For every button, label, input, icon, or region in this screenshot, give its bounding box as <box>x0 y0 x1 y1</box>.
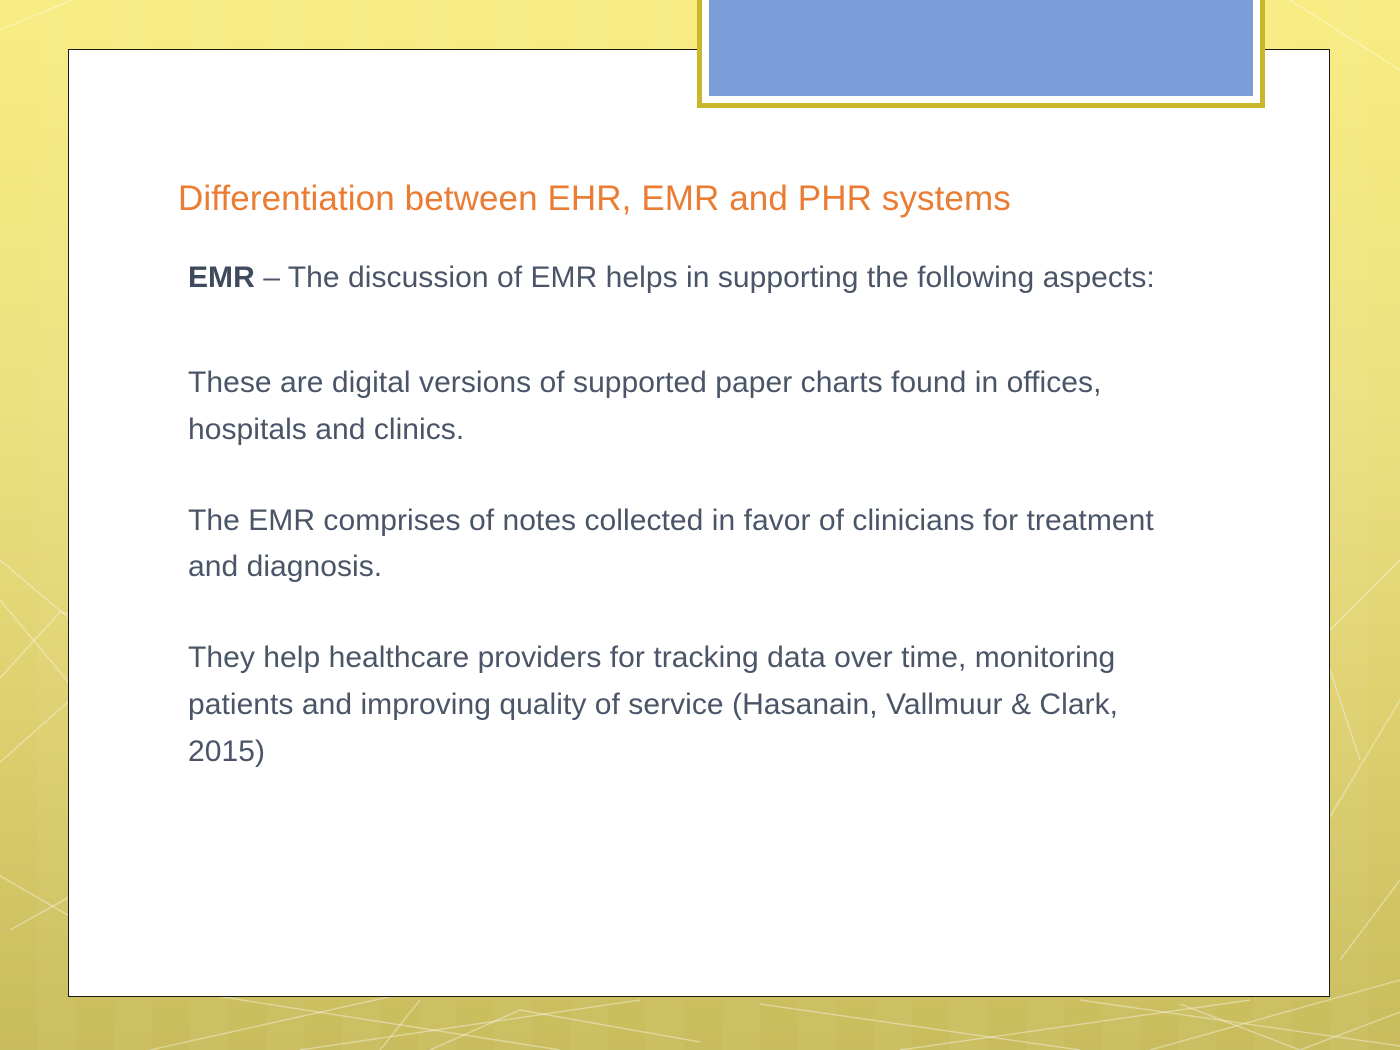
slide-body-list: EMR – The discussion of EMR helps in sup… <box>110 255 1170 775</box>
paragraph-text: The EMR comprises of notes collected in … <box>188 504 1154 584</box>
paragraph-lead-emphasis: EMR <box>188 261 255 294</box>
paragraph-text: They help healthcare providers for track… <box>188 641 1118 768</box>
slide-title: Differentiation between EHR, EMR and PHR… <box>110 178 1170 219</box>
paragraph-text: – The discussion of EMR helps in support… <box>255 261 1155 294</box>
slide-paragraph: The EMR comprises of notes collected in … <box>188 498 1170 592</box>
slide-paragraph: These are digital versions of supported … <box>188 360 1170 454</box>
presentation-slide: Differentiation between EHR, EMR and PHR… <box>0 0 1400 1050</box>
paragraph-text: These are digital versions of supported … <box>188 366 1101 446</box>
decorative-accent-block-fill <box>709 0 1253 96</box>
slide-paragraph: EMR – The discussion of EMR helps in sup… <box>188 255 1170 302</box>
slide-paragraph: They help healthcare providers for track… <box>188 635 1170 775</box>
decorative-accent-block <box>697 0 1265 108</box>
slide-text-area: Differentiation between EHR, EMR and PHR… <box>110 178 1170 776</box>
